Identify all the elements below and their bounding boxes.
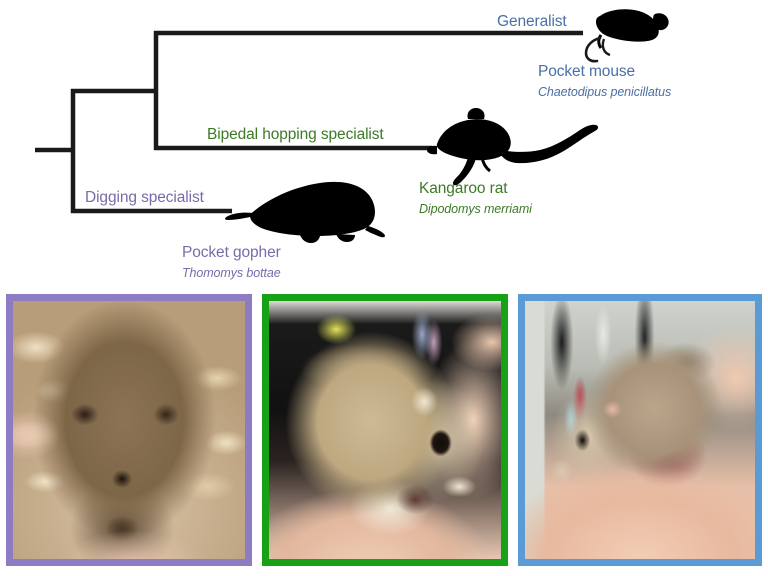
- photo-strip: [0, 290, 768, 576]
- scientific-name-kangaroo-rat: Dipodomys merriami: [419, 202, 532, 216]
- mouse-photo-face: [525, 301, 755, 559]
- common-name-pocket-mouse: Pocket mouse: [538, 63, 635, 81]
- photo-pocket-gopher: [6, 294, 252, 566]
- photo-kangaroo-rat: [262, 294, 508, 566]
- pocket-mouse-silhouette: [586, 9, 669, 61]
- common-name-kangaroo-rat: Kangaroo rat: [419, 180, 507, 198]
- gopher-photo-hand: [13, 301, 245, 559]
- krat-photo-face: [269, 301, 501, 559]
- ecotype-label-bipedal-hopping-specialist: Bipedal hopping specialist: [207, 126, 384, 144]
- phylogeny-panel: Generalist Bipedal hopping specialist Di…: [0, 0, 768, 290]
- common-name-pocket-gopher: Pocket gopher: [182, 244, 281, 262]
- scientific-name-pocket-gopher: Thomomys bottae: [182, 266, 281, 280]
- phylogenetic-tree: [0, 0, 768, 290]
- ecotype-label-digging-specialist: Digging specialist: [85, 189, 204, 207]
- kangaroo-rat-silhouette: [427, 108, 598, 185]
- scientific-name-pocket-mouse: Chaetodipus penicillatus: [538, 85, 671, 99]
- pocket-gopher-silhouette: [225, 182, 385, 243]
- photo-pocket-mouse: [518, 294, 762, 566]
- ecotype-label-generalist: Generalist: [497, 13, 567, 31]
